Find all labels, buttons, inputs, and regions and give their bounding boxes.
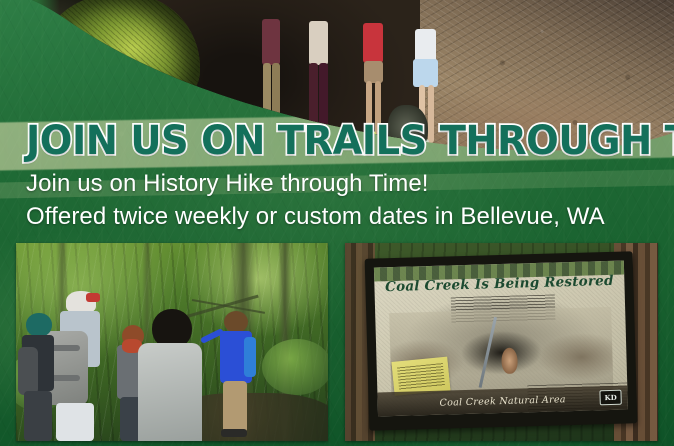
- sign-footer-label: Coal Creek Natural Area: [439, 394, 566, 409]
- page-title: JOIN US ON TRAILS THROUGH TIME!: [26, 120, 621, 162]
- sign-frame: Coal Creek Is Being Restored Coal Creek …: [365, 251, 638, 430]
- sign-panel: Coal Creek Is Being Restored Coal Creek …: [374, 261, 628, 417]
- hiker-teal-hair: [18, 307, 58, 441]
- promo-poster: JOIN US ON TRAILS THROUGH TIME! Join us …: [0, 0, 674, 446]
- sign-illustration-fish: [501, 348, 518, 374]
- subtitle-line-1: Join us on History Hike through Time!: [26, 170, 429, 198]
- photo-interpretive-sign: Coal Creek Is Being Restored Coal Creek …: [345, 243, 658, 441]
- sign-agency-logo: KD: [599, 390, 621, 406]
- subtitle-line-2: Offered twice weekly or custom dates in …: [26, 203, 605, 231]
- hero-mossy-boulder: [40, 0, 200, 124]
- photo-forest-group: [16, 243, 328, 441]
- forest-shrub: [262, 339, 328, 395]
- hiker-guide-blue-jacket: [212, 311, 258, 437]
- hiker-grey-hoodie: [134, 309, 206, 441]
